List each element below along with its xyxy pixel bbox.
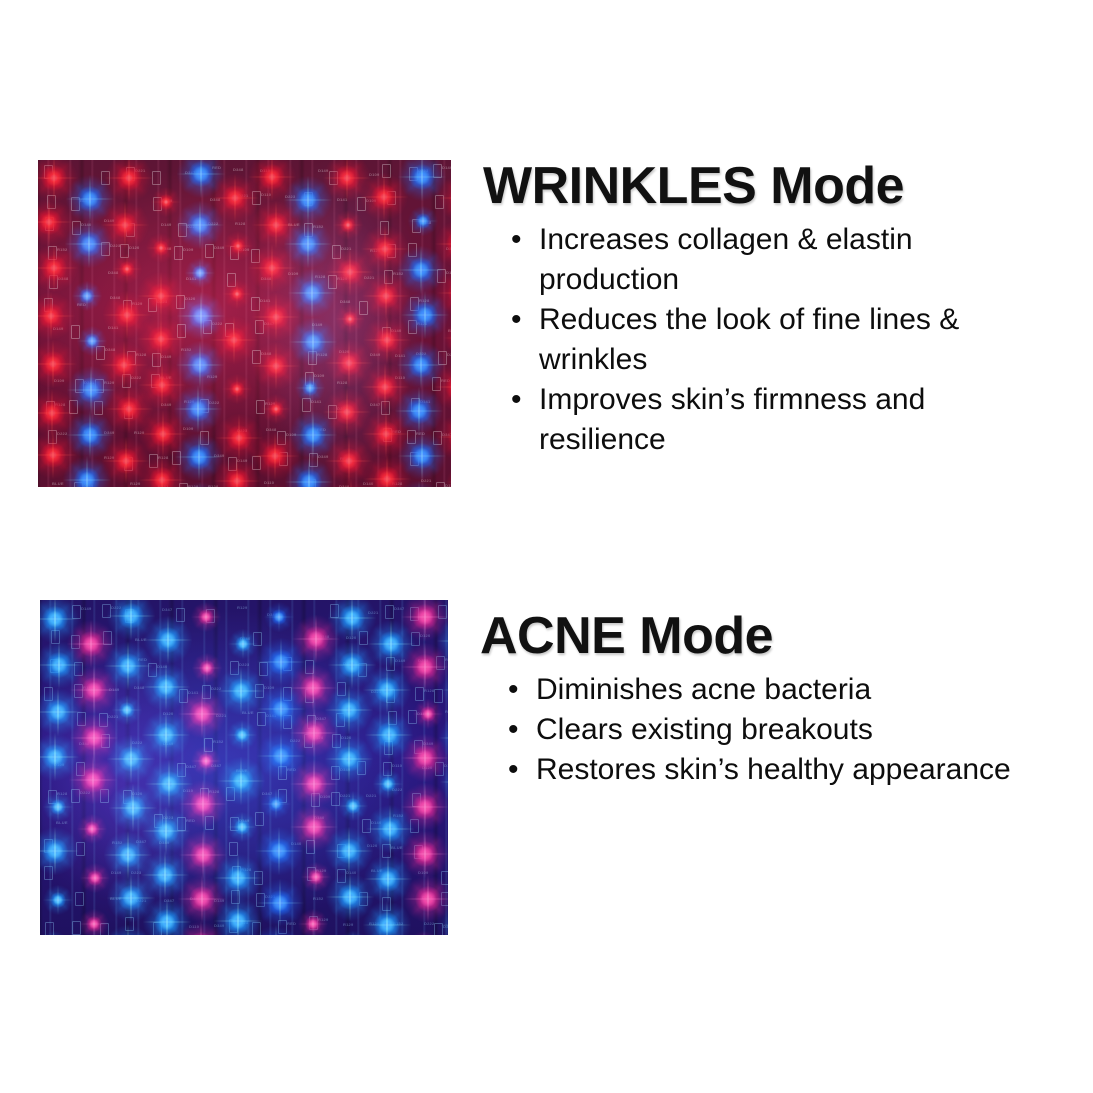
bullet-marker-icon: • bbox=[511, 380, 522, 420]
mode-section-wrinkles: D221D347REDD348D110D149D109D223D140BLUED… bbox=[0, 160, 1093, 487]
infographic-page: D221D347REDD348D110D149D109D223D140BLUED… bbox=[0, 0, 1093, 1093]
bullet-marker-icon: • bbox=[508, 710, 519, 750]
list-item-text: Diminishes acne bacteria bbox=[536, 673, 871, 706]
benefit-list-wrinkles: • Increases collagen & elastin productio… bbox=[483, 220, 1053, 460]
list-item-text: Restores skin’s healthy appearance bbox=[536, 753, 1011, 786]
list-item: • Restores skin’s healthy appearance bbox=[508, 750, 1053, 790]
list-item-text: Clears existing breakouts bbox=[536, 713, 873, 746]
led-panel-image-acne: D149D222D347R129D349D221D347BLUED140D348… bbox=[40, 600, 448, 935]
mode-text-wrinkles: WRINKLES Mode • Increases collagen & ela… bbox=[451, 160, 1093, 460]
glow-overlay bbox=[40, 600, 448, 935]
bullet-marker-icon: • bbox=[511, 300, 522, 340]
mode-title-wrinkles: WRINKLES Mode bbox=[483, 160, 1053, 212]
led-panel-image-wrinkles: D221D347REDD348D110D149D109D223D140BLUED… bbox=[38, 160, 451, 487]
list-item: • Clears existing breakouts bbox=[508, 710, 1053, 750]
mode-text-acne: ACNE Mode • Diminishes acne bacteria • C… bbox=[448, 600, 1093, 790]
benefit-list-acne: • Diminishes acne bacteria • Clears exis… bbox=[480, 670, 1053, 790]
list-item: • Increases collagen & elastin productio… bbox=[511, 220, 1053, 300]
list-item-text: Reduces the look of fine lines & wrinkle… bbox=[539, 303, 959, 376]
bullet-marker-icon: • bbox=[511, 220, 522, 260]
list-item: • Diminishes acne bacteria bbox=[508, 670, 1053, 710]
bullet-marker-icon: • bbox=[508, 670, 519, 710]
mode-section-acne: D149D222D347R129D349D221D347BLUED140D348… bbox=[0, 600, 1093, 935]
list-item-text: Increases collagen & elastin production bbox=[539, 223, 913, 296]
list-item-text: Improves skin’s firmness and resilience bbox=[539, 383, 925, 456]
mode-title-acne: ACNE Mode bbox=[480, 610, 1053, 662]
bullet-marker-icon: • bbox=[508, 750, 519, 790]
list-item: • Improves skin’s firmness and resilienc… bbox=[511, 380, 1053, 460]
glow-overlay bbox=[38, 160, 451, 487]
list-item: • Reduces the look of fine lines & wrink… bbox=[511, 300, 1053, 380]
